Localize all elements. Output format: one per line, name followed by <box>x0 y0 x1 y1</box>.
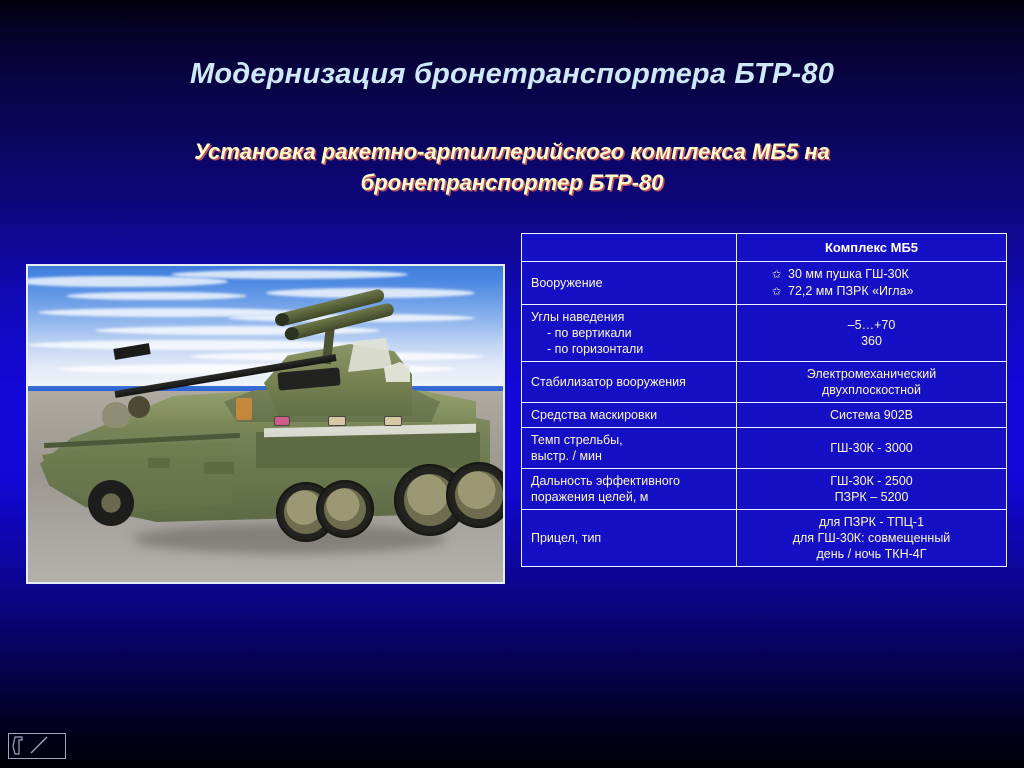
cloud-streak <box>171 270 409 279</box>
hull-fitting <box>204 462 234 474</box>
table-row: Стабилизатор вооружения Электромеханичес… <box>522 362 1007 403</box>
row-value-rate-of-fire: ГШ-30К - 3000 <box>737 428 1007 469</box>
table-row: Темп стрельбы, выстр. / мин ГШ-30К - 300… <box>522 428 1007 469</box>
vehicle-marker-light <box>274 416 290 426</box>
cloud-streak <box>66 292 247 300</box>
value-line: 360 <box>746 333 997 349</box>
broken-image-glyph <box>9 734 65 758</box>
table-header-row: Комплекс МБ5 <box>522 234 1007 262</box>
row-label-rate-of-fire: Темп стрельбы, выстр. / мин <box>522 428 737 469</box>
row-label-camouflage: Средства маскировки <box>522 403 737 428</box>
row-label-aiming-angles: Углы наведения - по вертикали - по гориз… <box>522 305 737 362</box>
row-value-stabilizer: Электромеханический двухплоскостной <box>737 362 1007 403</box>
row-value-sight-type: для ПЗРК - ТПЦ-1 для ГШ-30К: совмещенный… <box>737 510 1007 567</box>
value-line: для ГШ-30К: совмещенный <box>746 530 997 546</box>
value-line: ПЗРК – 5200 <box>746 489 997 505</box>
label-line: Дальность эффективного <box>531 473 727 489</box>
bullet-item: ✩30 мм пушка ГШ-30К <box>746 266 997 283</box>
star-icon: ✩ <box>772 267 785 283</box>
bullet-text: 30 мм пушка ГШ-30К <box>788 267 909 281</box>
value-line: –5…+70 <box>746 317 997 333</box>
vehicle-headlight <box>328 416 346 426</box>
hull-fitting <box>236 398 252 420</box>
star-icon: ✩ <box>772 284 785 300</box>
table-header-blank <box>522 234 737 262</box>
value-line: двухплоскостной <box>746 382 997 398</box>
label-line: - по вертикали <box>531 325 727 341</box>
page-title: Модернизация бронетранспортера БТР-80 <box>0 58 1024 91</box>
btr-80-photo <box>28 266 503 582</box>
row-label-armament: Вооружение <box>522 262 737 305</box>
value-line: для ПЗРК - ТПЦ-1 <box>746 514 997 530</box>
missile-nose-cap <box>283 326 300 342</box>
crew-helmet <box>128 396 150 418</box>
subtitle-line-2: бронетранспортер БТР-80 <box>112 167 912 198</box>
row-label-sight-type: Прицел, тип <box>522 510 737 567</box>
table-row: Вооружение ✩30 мм пушка ГШ-30К ✩72,2 мм … <box>522 262 1007 305</box>
label-line: выстр. / мин <box>531 448 727 464</box>
subtitle-line-1: Установка ракетно-артиллерийского компле… <box>112 136 912 167</box>
table-row: Прицел, тип для ПЗРК - ТПЦ-1 для ГШ-30К:… <box>522 510 1007 567</box>
row-value-armament: ✩30 мм пушка ГШ-30К ✩72,2 мм ПЗРК «Игла» <box>737 262 1007 305</box>
wheel <box>316 480 374 538</box>
row-value-aiming-angles: –5…+70 360 <box>737 305 1007 362</box>
crew-figure <box>102 402 130 428</box>
broken-image-placeholder-icon <box>8 733 66 759</box>
row-value-effective-range: ГШ-30К - 2500 ПЗРК – 5200 <box>737 469 1007 510</box>
label-line: Углы наведения <box>531 309 727 325</box>
turret-hatch <box>348 338 392 372</box>
bullet-item: ✩72,2 мм ПЗРК «Игла» <box>746 283 997 300</box>
table-row: Углы наведения - по вертикали - по гориз… <box>522 305 1007 362</box>
btr-80-photo-frame <box>26 264 505 584</box>
label-line: - по горизонтали <box>531 341 727 357</box>
cloud-streak <box>28 340 370 350</box>
specifications-table: Комплекс МБ5 Вооружение ✩30 мм пушка ГШ-… <box>521 233 1007 567</box>
hull-fitting <box>148 458 170 468</box>
table-row: Дальность эффективного поражения целей, … <box>522 469 1007 510</box>
label-line: поражения целей, м <box>531 489 727 505</box>
label-line: Темп стрельбы, <box>531 432 727 448</box>
row-label-effective-range: Дальность эффективного поражения целей, … <box>522 469 737 510</box>
table-header-complex-mb5: Комплекс МБ5 <box>737 234 1007 262</box>
wheel <box>88 480 134 526</box>
slide-canvas: Модернизация бронетранспортера БТР-80 Ус… <box>0 0 1024 768</box>
vehicle-side-skirt <box>256 432 480 468</box>
bullet-text: 72,2 мм ПЗРК «Игла» <box>788 284 914 298</box>
value-line: Электромеханический <box>746 366 997 382</box>
value-line: ГШ-30К - 2500 <box>746 473 997 489</box>
row-value-camouflage: Система 902В <box>737 403 1007 428</box>
wheel <box>446 462 503 528</box>
row-label-stabilizer: Стабилизатор вооружения <box>522 362 737 403</box>
page-subtitle: Установка ракетно-артиллерийского компле… <box>112 136 912 198</box>
vehicle-headlight <box>384 416 402 426</box>
table-row: Средства маскировки Система 902В <box>522 403 1007 428</box>
value-line: день / ночь ТКН-4Г <box>746 546 997 562</box>
